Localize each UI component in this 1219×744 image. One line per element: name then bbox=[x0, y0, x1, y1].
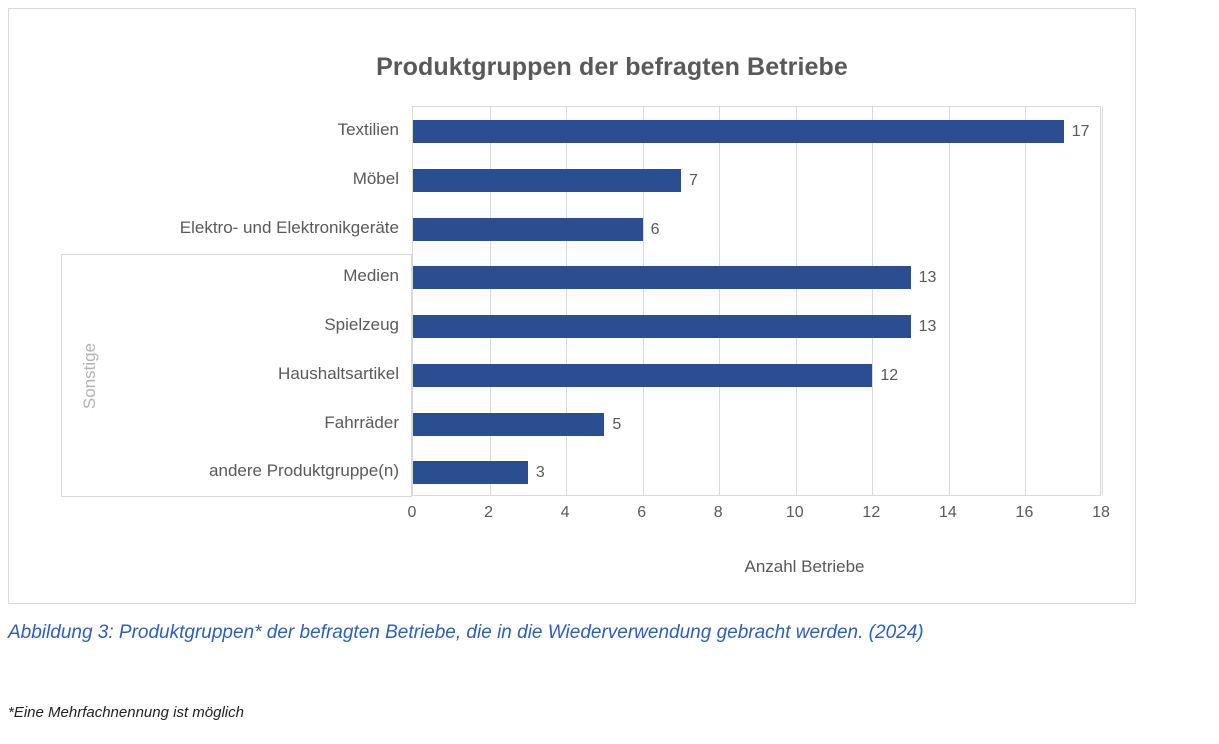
bar-slot: 13 bbox=[413, 253, 1100, 302]
bar-slot: 6 bbox=[413, 205, 1100, 254]
category-group-label-wrapper: Sonstige bbox=[76, 255, 104, 496]
x-axis-tick-label: 18 bbox=[1092, 504, 1110, 522]
bar[interactable] bbox=[413, 266, 911, 289]
y-axis-category-label: Elektro- und Elektronikgeräte bbox=[180, 204, 399, 253]
bar-slot: 13 bbox=[413, 302, 1100, 351]
x-axis-title-text: Anzahl Betriebe bbox=[648, 557, 864, 577]
gridline bbox=[1102, 107, 1103, 495]
plot-area: 177613131253 bbox=[412, 106, 1101, 496]
x-axis-tick-label: 16 bbox=[1016, 504, 1034, 522]
category-group-label-sonstige: Sonstige bbox=[80, 342, 100, 408]
bar-slot: 3 bbox=[413, 448, 1100, 497]
bar-slot: 5 bbox=[413, 400, 1100, 449]
chart-container: Produktgruppen der befragten Betriebe Te… bbox=[8, 8, 1136, 604]
y-axis-category-label: Möbel bbox=[353, 155, 399, 204]
bar[interactable] bbox=[413, 413, 604, 436]
bar-value-label: 17 bbox=[1064, 120, 1090, 143]
x-axis-tick-label: 2 bbox=[484, 504, 493, 522]
bar[interactable] bbox=[413, 120, 1064, 143]
x-axis-tick-label: 6 bbox=[637, 504, 646, 522]
bar-value-label: 12 bbox=[872, 364, 898, 387]
x-axis-tick-label: 10 bbox=[786, 504, 804, 522]
bar-slot: 12 bbox=[413, 351, 1100, 400]
x-axis-tick-labels: 024681012141618 bbox=[412, 504, 1101, 532]
x-axis-tick-label: 4 bbox=[561, 504, 570, 522]
x-axis-tick-label: 14 bbox=[939, 504, 957, 522]
figure-caption: Abbildung 3: Produktgruppen* der befragt… bbox=[8, 620, 1208, 647]
bar-value-label: 5 bbox=[604, 413, 621, 436]
bar[interactable] bbox=[413, 461, 528, 484]
chart-title-text: Produktgruppen der befragten Betriebe bbox=[296, 53, 848, 82]
y-axis-category-label: Textilien bbox=[338, 106, 399, 155]
bar-slot: 7 bbox=[413, 156, 1100, 205]
bar-slot: 17 bbox=[413, 107, 1100, 156]
bar[interactable] bbox=[413, 315, 911, 338]
figure-footnote: *Eine Mehrfachnennung ist möglich bbox=[8, 703, 1208, 723]
bar-value-label: 13 bbox=[911, 266, 937, 289]
bar-value-label: 6 bbox=[643, 218, 660, 241]
bar-value-label: 3 bbox=[528, 461, 545, 484]
bar-value-label: 7 bbox=[681, 169, 698, 192]
bar-value-label: 13 bbox=[911, 315, 937, 338]
x-axis-tick-label: 8 bbox=[714, 504, 723, 522]
category-group-box-sonstige: Sonstige bbox=[61, 254, 412, 497]
chart-title: Produktgruppen der befragten Betriebe bbox=[9, 53, 1135, 82]
x-axis-tick-label: 12 bbox=[862, 504, 880, 522]
x-axis-tick-label: 0 bbox=[408, 504, 417, 522]
bar[interactable] bbox=[413, 364, 872, 387]
bar[interactable] bbox=[413, 218, 643, 241]
bar[interactable] bbox=[413, 169, 681, 192]
bar-series: 177613131253 bbox=[413, 107, 1100, 495]
x-axis-title: Anzahl Betriebe bbox=[412, 557, 1101, 577]
